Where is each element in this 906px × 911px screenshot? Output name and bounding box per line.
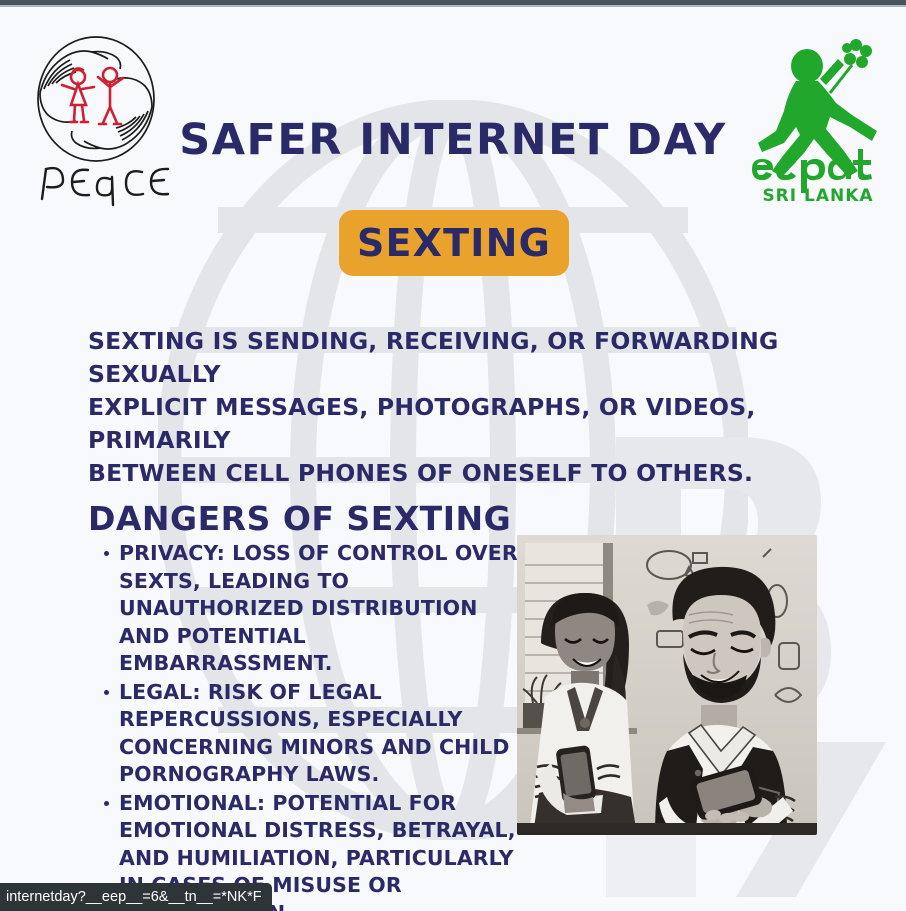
sexting-badge: SEXTING (339, 210, 569, 276)
svg-text:SRI LANKA: SRI LANKA (762, 186, 873, 203)
poster-canvas: SRI LANKA SAFER INTERNET DAY SEXTING SEX… (0, 7, 906, 911)
page-title: SAFER INTERNET DAY (0, 115, 906, 165)
definition-line-2: EXPLICIT MESSAGES, PHOTOGRAPHS, OR VIDEO… (88, 391, 833, 457)
dangers-heading: DANGERS OF SEXTING (88, 499, 511, 538)
sexting-badge-label: SEXTING (357, 221, 551, 265)
link-preview-tooltip: internetday?__eep__=6&__tn__=*NK*F (0, 883, 272, 911)
browser-chrome-strip (0, 0, 906, 5)
link-preview-url: internetday?__eep__=6&__tn__=*NK*F (6, 889, 262, 905)
definition-line-3: BETWEEN CELL PHONES OF ONESELF TO OTHERS… (88, 457, 833, 490)
list-item: PRIVACY: LOSS OF CONTROL OVER SEXTS, LEA… (100, 540, 525, 678)
dangers-list: PRIVACY: LOSS OF CONTROL OVER SEXTS, LEA… (100, 540, 525, 911)
definition-paragraph: SEXTING IS SENDING, RECEIVING, OR FORWAR… (88, 325, 833, 490)
illustration-girl-and-man-with-phones (517, 535, 817, 835)
definition-line-1: SEXTING IS SENDING, RECEIVING, OR FORWAR… (88, 325, 833, 391)
list-item: LEGAL: RISK OF LEGAL REPERCUSSIONS, ESPE… (100, 679, 525, 789)
